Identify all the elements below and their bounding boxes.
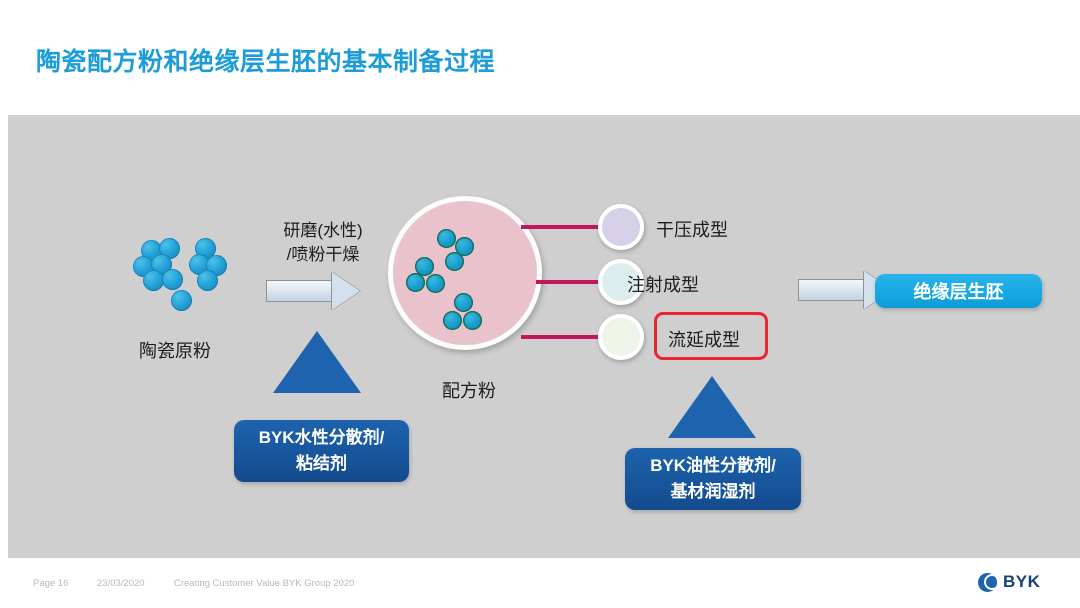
connector-line-3 [521, 335, 606, 339]
footer-page-number: Page 16 [33, 578, 68, 589]
callout-pointer-1 [273, 331, 361, 393]
callout-box-oil-based: BYK油性分散剂/ 基材润湿剂 [625, 448, 801, 510]
page-title: 陶瓷配方粉和绝缘层生胚的基本制备过程 [36, 42, 495, 78]
formulated-powder-label: 配方粉 [442, 377, 496, 403]
byk-logo: BYK [978, 572, 1040, 592]
footer-bar [0, 558, 1080, 608]
outcome-circle-1 [598, 204, 644, 250]
process-arrow-label: 研磨(水性) /喷粉干燥 [258, 219, 388, 267]
outcome-circle-3 [598, 314, 644, 360]
callout-pointer-2 [668, 376, 756, 438]
result-box: 绝缘层生胚 [875, 274, 1042, 308]
footer-date: 23/03/2020 [97, 578, 145, 589]
outcome-label-2: 注射成型 [627, 271, 699, 297]
connector-line-1 [521, 225, 606, 229]
callout-box-water-based: BYK水性分散剂/ 粘结剂 [234, 420, 409, 482]
raw-powder-particles-icon [133, 236, 233, 322]
outcome-label-1: 干压成型 [656, 216, 728, 242]
byk-logo-mark-icon [978, 573, 997, 592]
process-arrow-icon [266, 272, 362, 310]
formulated-powder-circle [388, 196, 542, 350]
raw-powder-label: 陶瓷原粉 [139, 337, 211, 363]
diagram-panel: 陶瓷原粉 研磨(水性) /喷粉干燥 配方粉 干压成型 注射成型 流延成型 绝缘层… [8, 115, 1080, 558]
connector-line-2 [536, 280, 606, 284]
byk-logo-text: BYK [1003, 572, 1040, 592]
outcome-label-3: 流延成型 [668, 326, 740, 352]
footer-copyright: Creating Customer Value BYK Group 2020 [174, 578, 354, 589]
